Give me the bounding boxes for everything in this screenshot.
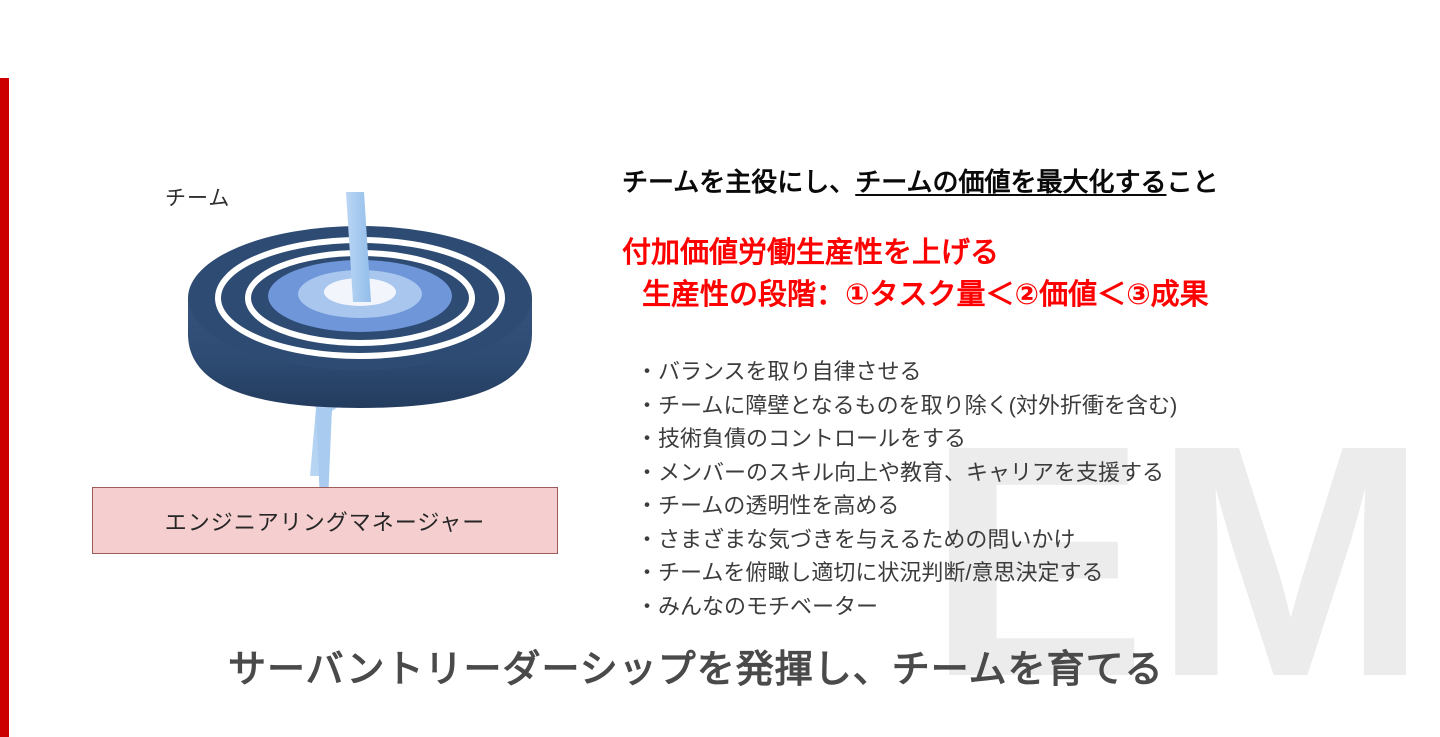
- left-accent-bar: [0, 78, 9, 737]
- list-item: ・バランスを取り自律させる: [636, 355, 1177, 389]
- role-box-label: エンジニアリングマネージャー: [165, 505, 485, 537]
- list-item: ・チームの透明性を高める: [636, 489, 1177, 523]
- list-item: ・みんなのモチベーター: [636, 590, 1177, 624]
- list-item: ・技術負債のコントロールをする: [636, 422, 1177, 456]
- spinning-top-illustration: [150, 186, 570, 516]
- role-box: エンジニアリングマネージャー: [92, 487, 558, 554]
- list-item: ・チームを俯瞰し適切に状況判断/意思決定する: [636, 556, 1177, 590]
- list-item: ・メンバーのスキル向上や教育、キャリアを支援する: [636, 456, 1177, 490]
- headline-underlined: チームの価値を最大化する: [855, 167, 1166, 197]
- slide-canvas: EM: [0, 0, 1440, 737]
- headline-suffix: こと: [1166, 167, 1218, 197]
- bullet-list: ・バランスを取り自律させる ・チームに障壁となるものを取り除く(対外折衝を含む)…: [636, 355, 1177, 623]
- list-item: ・チームに障壁となるものを取り除く(対外折衝を含む): [636, 389, 1177, 423]
- team-label: チーム: [165, 182, 230, 212]
- headline-prefix: チームを主役にし、: [622, 167, 855, 197]
- red-line-1: 付加価値労働生産性を上げる: [622, 237, 999, 269]
- headline-black: チームを主役にし、チームの価値を最大化すること: [622, 162, 1218, 199]
- red-emphasis-block: 付加価値労働生産性を上げる 生産性の段階：①タスク量＜②価値＜③成果: [622, 232, 1209, 316]
- red-line-2: 生産性の段階：①タスク量＜②価値＜③成果: [622, 274, 1209, 316]
- list-item: ・さまざまな気づきを与えるための問いかけ: [636, 523, 1177, 557]
- footer-headline: サーバントリーダーシップを発揮し、チームを育てる: [228, 638, 1164, 693]
